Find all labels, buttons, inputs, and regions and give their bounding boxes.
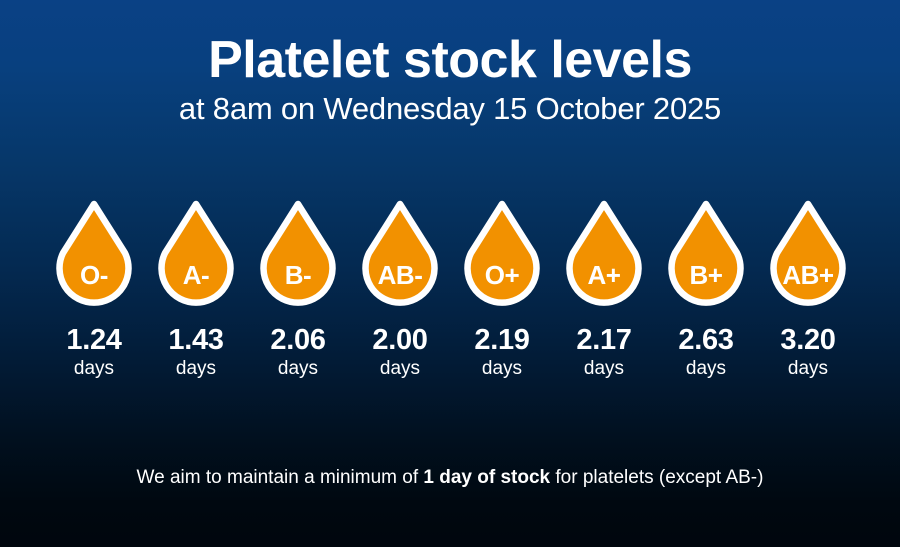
stock-days-value: 2.06 (270, 325, 325, 355)
blood-stock-item: A+2.17days (553, 198, 655, 380)
stock-days-unit: days (482, 358, 522, 380)
blood-drop-icon: AB- (360, 198, 440, 313)
blood-drop-icon: A- (156, 198, 236, 313)
stock-days-unit: days (788, 358, 828, 380)
stock-days-unit: days (584, 358, 624, 380)
stock-days-unit: days (278, 358, 318, 380)
blood-stock-item: AB-2.00days (349, 198, 451, 380)
stock-days-unit: days (74, 358, 114, 380)
footer-text-after: for platelets (except AB-) (550, 467, 763, 488)
blood-stock-item: B-2.06days (247, 198, 349, 380)
stock-days-value: 2.63 (678, 325, 733, 355)
stock-days-value: 2.19 (474, 325, 529, 355)
blood-drop-icon: A+ (564, 198, 644, 313)
stock-days-value: 1.43 (168, 325, 223, 355)
blood-drop-icon: O- (54, 198, 134, 313)
page-subtitle: at 8am on Wednesday 15 October 2025 (0, 90, 900, 128)
blood-drop-icon: AB+ (768, 198, 848, 313)
blood-drop-icon: B+ (666, 198, 746, 313)
stock-days-value: 2.00 (372, 325, 427, 355)
blood-stock-item: AB+3.20days (757, 198, 859, 380)
blood-drop-icon: O+ (462, 198, 542, 313)
stock-days-value: 2.17 (576, 325, 631, 355)
footer-note: We aim to maintain a minimum of 1 day of… (0, 466, 900, 490)
blood-stock-item: O-1.24days (43, 198, 145, 380)
platelet-stock-poster: Platelet stock levels at 8am on Wednesda… (0, 0, 900, 547)
blood-stock-item: B+2.63days (655, 198, 757, 380)
blood-stock-item: A-1.43days (145, 198, 247, 380)
blood-stock-item: O+2.19days (451, 198, 553, 380)
stock-days-unit: days (176, 358, 216, 380)
footer-text-before: We aim to maintain a minimum of (137, 467, 424, 488)
footer-text-bold: 1 day of stock (423, 467, 550, 488)
stock-days-value: 1.24 (66, 325, 121, 355)
stock-days-unit: days (380, 358, 420, 380)
blood-drop-icon: B- (258, 198, 338, 313)
stock-days-unit: days (686, 358, 726, 380)
page-title: Platelet stock levels (0, 30, 900, 90)
stock-days-value: 3.20 (780, 325, 835, 355)
blood-stock-row: O-1.24daysA-1.43daysB-2.06daysAB-2.00day… (43, 198, 859, 380)
header: Platelet stock levels at 8am on Wednesda… (0, 30, 900, 128)
